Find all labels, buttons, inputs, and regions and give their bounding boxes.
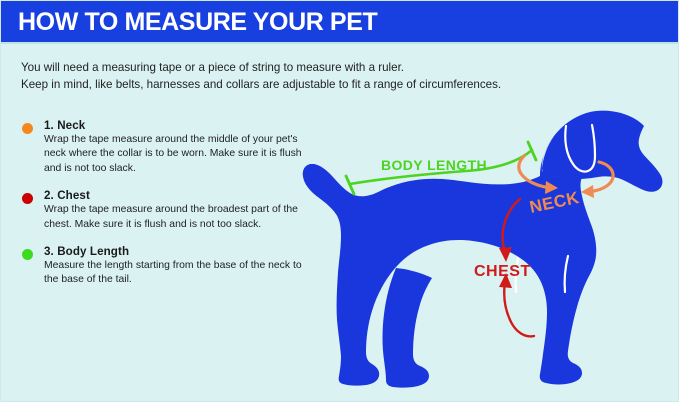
list-item: 2. Chest Wrap the tape measure around th… <box>19 189 304 232</box>
list-item: 3. Body Length Measure the length starti… <box>19 245 304 288</box>
step-title-body-length: 3. Body Length <box>44 245 304 258</box>
dog-silhouette-icon <box>303 111 663 388</box>
label-chest: CHEST <box>474 263 531 280</box>
intro-text: You will need a measuring tape or a piec… <box>21 59 661 93</box>
step-body-chest: Wrap the tape measure around the broades… <box>44 203 304 232</box>
list-item: 1. Neck Wrap the tape measure around the… <box>19 119 304 176</box>
bullet-icon-neck <box>22 123 33 134</box>
bullet-icon-chest <box>22 193 33 204</box>
measurement-guide-page: HOW TO MEASURE YOUR PET You will need a … <box>0 0 679 402</box>
step-body-body-length: Measure the length starting from the bas… <box>44 259 304 288</box>
dog-measurement-diagram: BODY LENGTH NECK CHEST <box>296 106 679 402</box>
intro-line-2: Keep in mind, like belts, harnesses and … <box>21 76 661 93</box>
step-title-chest: 2. Chest <box>44 189 304 202</box>
label-body-length: BODY LENGTH <box>381 157 487 173</box>
step-body-neck: Wrap the tape measure around the middle … <box>44 133 304 176</box>
intro-line-1: You will need a measuring tape or a piec… <box>21 59 661 76</box>
page-title: HOW TO MEASURE YOUR PET <box>18 8 377 36</box>
bullet-icon-body-length <box>22 249 33 260</box>
measurement-steps-list: 1. Neck Wrap the tape measure around the… <box>19 119 304 301</box>
header-divider <box>1 42 679 44</box>
step-title-neck: 1. Neck <box>44 119 304 132</box>
